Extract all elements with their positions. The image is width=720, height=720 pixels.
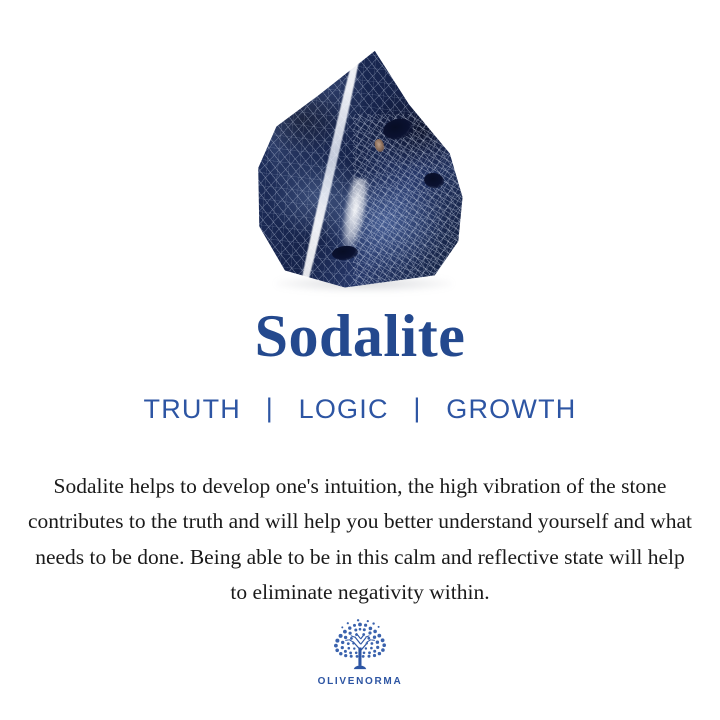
keyword-list: TRUTH | LOGIC | GROWTH [0, 392, 720, 426]
page-title: Sodalite [0, 300, 720, 372]
gemstone-image-area [0, 0, 720, 296]
brand-logo: OLIVENORMA [0, 618, 720, 687]
keyword-truth: TRUTH [144, 392, 241, 426]
gemstone-calcite-vein [255, 46, 469, 290]
sodalite-gemstone-photo [255, 46, 469, 290]
keyword-separator: | [397, 391, 437, 425]
product-info-card: Sodalite TRUTH | LOGIC | GROWTH Sodalite… [0, 0, 720, 720]
description-text: Sodalite helps to develop one's intuitio… [26, 469, 694, 611]
keyword-growth: GROWTH [446, 392, 576, 426]
keyword-logic: LOGIC [299, 392, 389, 426]
gemstone-body [255, 46, 469, 290]
keyword-separator: | [250, 391, 290, 425]
brand-name: OLIVENORMA [318, 676, 403, 687]
tree-of-life-icon [323, 618, 397, 674]
